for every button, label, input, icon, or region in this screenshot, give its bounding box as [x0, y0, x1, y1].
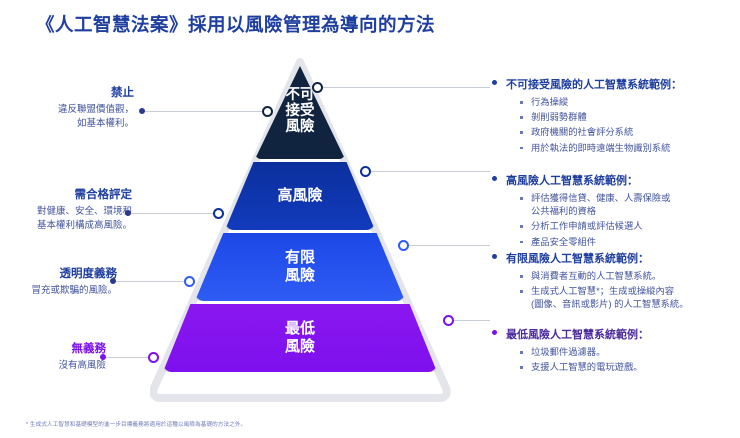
list-item: 政府機關的社會評分系統 [520, 126, 682, 139]
tier-label-line: 風險 [285, 267, 315, 285]
example-group-minimal-risk: 最低風險人工智慧系統範例： 垃圾郵件過濾器。 支援人工智慧的電玩遊戲。 [492, 326, 649, 376]
connector-dot-high-left [213, 208, 224, 219]
annotation-prohibited: 禁止 違反聯盟價值觀， 如基本權利。 [4, 84, 134, 131]
example-group-high-risk: 高風險人工智慧系統範例： 評估獲得信貸、健康、人壽保險或公共福利的資格 分析工作… [492, 172, 670, 251]
annotation-conformity-assessment: 需合格評定 對健康、安全、環境和 基本權利構成高風險。 [4, 186, 132, 233]
leader-dot-transparency [110, 278, 116, 284]
connector-dot-minimal-left [148, 352, 159, 363]
tier-label-line: 不可 [286, 88, 315, 104]
tier-label-line: 風險 [286, 120, 315, 136]
leader-line-no-obligation [103, 357, 151, 358]
annotation-transparency-obligation: 透明度義務 冒充或欺騙的風險。 [4, 265, 117, 298]
leader-line-high [366, 171, 490, 172]
example-list: 行為操縱 剝削弱勢群體 政府機關的社會評分系統 用於執法的即時遠端生物識別系統 [492, 96, 682, 155]
tier-label-line: 高風險 [277, 187, 322, 205]
tier-label-line: 風險 [285, 338, 315, 356]
connector-dot-minimal-right [443, 315, 454, 326]
leader-line-prohibited [142, 111, 264, 112]
annotation-body-line: 沒有高風險 [4, 359, 106, 373]
leader-dot-prohibited [139, 108, 145, 114]
list-item: 支援人工智慧的電玩遊戲。 [520, 361, 649, 374]
annotation-no-obligation: 無義務 沒有高風險 [4, 340, 106, 373]
group-heading: 最低風險人工智慧系統範例： [492, 326, 649, 342]
footnote: * 生成式人工智慧和基礎模型的進一步目標義務將適用於這種以風險為基礎的方法之外。 [26, 420, 246, 428]
leader-dot-no-obligation [100, 354, 106, 360]
example-list: 與消費者互動的人工智慧系統。 生成式人工智慧*；生成或操縱內容(圖像、音訊或影片… [492, 270, 689, 312]
annotation-title: 透明度義務 [4, 265, 117, 281]
group-heading: 高風險人工智慧系統範例： [492, 172, 670, 188]
annotation-title: 禁止 [4, 84, 134, 100]
annotation-body-line: 違反聯盟價值觀， [4, 103, 134, 117]
connector-dot-limited-left [184, 276, 195, 287]
annotation-title: 無義務 [4, 340, 106, 356]
example-list: 垃圾郵件過濾器。 支援人工智慧的電玩遊戲。 [492, 346, 649, 374]
leader-line-unacceptable [318, 87, 490, 88]
group-heading: 不可接受風險的人工智慧系統範例： [492, 76, 682, 92]
annotation-body-line: 如基本權利。 [4, 117, 134, 131]
group-heading: 有限風險人工智慧系統範例： [492, 250, 689, 266]
leader-line-transparency [113, 281, 187, 282]
example-list: 評估獲得信貸、健康、人壽保險或公共福利的資格 分析工作申請或評估候選人 產品安全… [492, 192, 670, 249]
connector-dot-unacceptable-left [262, 106, 273, 117]
list-item: 產品安全零組件 [520, 236, 670, 249]
annotation-body-line: 對健康、安全、環境和 [4, 205, 132, 219]
pyramid-tier-minimal[interactable]: 最低 風險 [163, 304, 437, 372]
example-group-unacceptable: 不可接受風險的人工智慧系統範例： 行為操縱 剝削弱勢群體 政府機關的社會評分系統… [492, 76, 682, 157]
tier-label-line: 最低 [285, 320, 315, 338]
list-item: 垃圾郵件過濾器。 [520, 346, 649, 359]
list-item: 生成式人工智慧*；生成或操縱內容(圖像、音訊或影片) 的人工智慧系統。 [520, 285, 689, 311]
tier-label-line: 接受 [286, 104, 315, 120]
connector-dot-unacceptable-right [312, 82, 323, 93]
leader-line-conformity [128, 213, 216, 214]
example-group-limited-risk: 有限風險人工智慧系統範例： 與消費者互動的人工智慧系統。 生成式人工智慧*；生成… [492, 250, 689, 314]
connector-dot-high-right [360, 166, 371, 177]
list-item: 評估獲得信貸、健康、人壽保險或公共福利的資格 [520, 192, 670, 218]
annotation-title: 需合格評定 [4, 186, 132, 202]
connector-dot-limited-right [398, 240, 409, 251]
leader-line-minimal [449, 320, 490, 321]
leader-line-limited [404, 245, 490, 246]
list-item: 分析工作申請或評估候選人 [520, 220, 670, 233]
pyramid-tier-limited[interactable]: 有限 風險 [195, 233, 405, 301]
list-item: 用於執法的即時遠端生物識別系統 [520, 142, 682, 155]
list-item: 剝削弱勢群體 [520, 111, 682, 124]
tier-label-line: 有限 [285, 249, 315, 267]
annotation-body-line: 冒充或欺騙的風險。 [4, 284, 117, 298]
list-item: 與消費者互動的人工智慧系統。 [520, 270, 689, 283]
annotation-body-line: 基本權利構成高風險。 [4, 219, 132, 233]
page-title: 《人工智慧法案》採用以風險管理為導向的方法 [36, 11, 435, 37]
leader-dot-conformity [125, 210, 131, 216]
list-item: 行為操縱 [520, 96, 682, 109]
